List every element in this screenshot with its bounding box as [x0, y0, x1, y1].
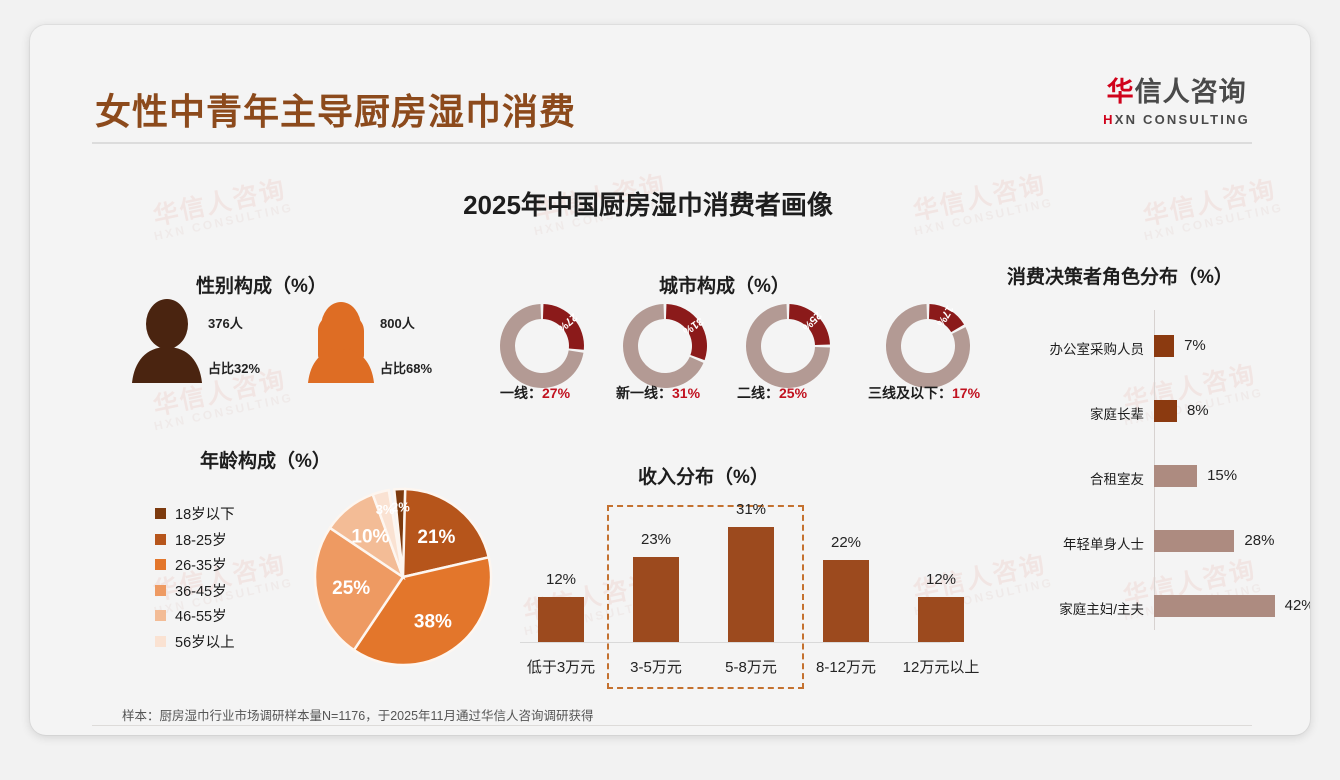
page-title: 女性中青年主导厨房湿巾消费	[95, 83, 576, 135]
decision-bar-value: 28%	[1244, 532, 1274, 549]
main-chart-title-text: 2025年中国厨房湿巾消费者画像	[463, 190, 833, 220]
watermark-line2: HXN CONSULTING	[153, 391, 295, 433]
infographic-page: 华信人咨询HXN CONSULTING华信人咨询HXN CONSULTING华信…	[0, 0, 1340, 780]
city-donut: 27%	[496, 300, 588, 392]
age-legend-swatch	[155, 610, 166, 621]
age-pie: 2%21%38%25%10%3%	[313, 487, 493, 667]
city-label-value: 17%	[952, 385, 980, 401]
age-pie-value: 10%	[351, 526, 389, 547]
decision-bar[interactable]	[1154, 335, 1174, 357]
gender-count: 376人	[208, 313, 243, 332]
city-donut: 25%	[742, 300, 834, 392]
income-bar-value: 12%	[521, 571, 601, 588]
decision-row-label: 办公室采购人员	[1014, 338, 1144, 358]
city-donut-label: 新一线：31%	[616, 383, 700, 403]
logo-english: HXN CONSULTING	[1103, 113, 1250, 126]
gender-section-title: 性别构成（%）	[196, 271, 327, 298]
main-chart-title: 2025年中国厨房湿巾消费者画像	[30, 185, 1310, 222]
city-label-name: 二线：	[737, 385, 779, 401]
decision-bar-value: 7%	[1184, 337, 1206, 354]
age-legend-swatch	[155, 585, 166, 596]
city-label-name: 一线：	[500, 385, 542, 401]
slide-card: 华信人咨询HXN CONSULTING华信人咨询HXN CONSULTING华信…	[30, 25, 1310, 735]
gender-share: 占比32%	[208, 358, 260, 377]
age-section-title: 年龄构成（%）	[200, 446, 331, 473]
income-bar[interactable]	[728, 527, 774, 642]
income-bar-value: 23%	[616, 531, 696, 548]
age-pie-value: 21%	[417, 527, 455, 548]
income-category-label: 8-12万元	[796, 656, 896, 677]
income-bar-value: 31%	[711, 501, 791, 518]
age-legend-label: 18-25岁	[175, 529, 227, 550]
gender-count: 800人	[380, 313, 415, 332]
age-legend-swatch	[155, 636, 166, 647]
city-donut: 31%	[619, 300, 711, 392]
age-legend-label: 26-35岁	[175, 554, 227, 575]
age-pie-value: 3%	[376, 502, 395, 517]
city-label-name: 新一线：	[616, 385, 672, 401]
age-legend-item[interactable]: 46-55岁	[155, 605, 227, 626]
decision-row-label: 家庭长辈	[1014, 403, 1144, 423]
age-legend-item[interactable]: 26-35岁	[155, 554, 227, 575]
age-pie-value: 38%	[414, 611, 452, 632]
income-category-label: 低于3万元	[511, 656, 611, 677]
age-legend-swatch	[155, 508, 166, 519]
city-label-value: 25%	[779, 385, 807, 401]
decision-bar[interactable]	[1154, 400, 1177, 422]
city-donut-label: 一线：27%	[500, 383, 570, 403]
sample-note: 样本：厨房湿巾行业市场调研样本量N=1176，于2025年11月通过华信人咨询调…	[122, 705, 594, 724]
logo-cn-rest: 信人咨询	[1135, 77, 1247, 107]
decision-bar-value: 42%	[1285, 597, 1310, 614]
decision-row-label: 家庭主妇/主夫	[1014, 598, 1144, 618]
city-donut: 17%	[882, 300, 974, 392]
decision-bar[interactable]	[1154, 530, 1234, 552]
male-silhouette-icon	[128, 297, 206, 383]
header-divider	[92, 142, 1252, 144]
city-label-name: 三线及以下：	[868, 385, 952, 401]
age-legend-item[interactable]: 36-45岁	[155, 580, 227, 601]
age-legend-label: 18岁以下	[175, 503, 235, 524]
income-category-label: 3-5万元	[606, 656, 706, 677]
decision-section-title: 消费决策者角色分布（%）	[1007, 262, 1233, 289]
decision-bar-value: 8%	[1187, 402, 1209, 419]
age-legend-item[interactable]: 18岁以下	[155, 503, 235, 524]
decision-bar-value: 15%	[1207, 467, 1237, 484]
age-legend-item[interactable]: 56岁以上	[155, 631, 235, 652]
income-bar-value: 12%	[901, 571, 981, 588]
city-donut-label: 二线：25%	[737, 383, 807, 403]
age-legend-label: 46-55岁	[175, 605, 227, 626]
gender-share: 占比68%	[380, 358, 432, 377]
income-category-label: 5-8万元	[701, 656, 801, 677]
city-label-value: 27%	[542, 385, 570, 401]
age-legend-item[interactable]: 18-25岁	[155, 529, 227, 550]
logo-cn-red: 华	[1107, 77, 1135, 107]
age-legend-label: 56岁以上	[175, 631, 235, 652]
city-label-value: 31%	[672, 385, 700, 401]
income-section-title: 收入分布（%）	[638, 462, 769, 489]
decision-bar[interactable]	[1154, 465, 1197, 487]
income-bar[interactable]	[538, 597, 584, 642]
income-bar[interactable]	[918, 597, 964, 642]
logo-en-rest: XN CONSULTING	[1115, 112, 1250, 127]
decision-row-label: 年轻单身人士	[1014, 533, 1144, 553]
decision-bar[interactable]	[1154, 595, 1275, 617]
age-pie-value: 25%	[332, 578, 370, 599]
footer-divider	[92, 725, 1252, 726]
age-legend-swatch	[155, 534, 166, 545]
income-bar-value: 22%	[806, 534, 886, 551]
income-category-label: 12万元以上	[891, 656, 991, 677]
age-legend-swatch	[155, 559, 166, 570]
income-bar[interactable]	[823, 560, 869, 642]
female-silhouette-icon	[302, 297, 380, 383]
logo-chinese: 华信人咨询	[1103, 79, 1250, 106]
age-legend-label: 36-45岁	[175, 580, 227, 601]
city-donut-label: 三线及以下：17%	[868, 383, 980, 403]
decision-row-label: 合租室友	[1014, 468, 1144, 488]
logo-en-red: H	[1103, 112, 1115, 127]
company-logo: 华信人咨询 HXN CONSULTING	[1103, 79, 1250, 126]
city-section-title: 城市构成（%）	[659, 271, 790, 298]
income-bar[interactable]	[633, 557, 679, 642]
